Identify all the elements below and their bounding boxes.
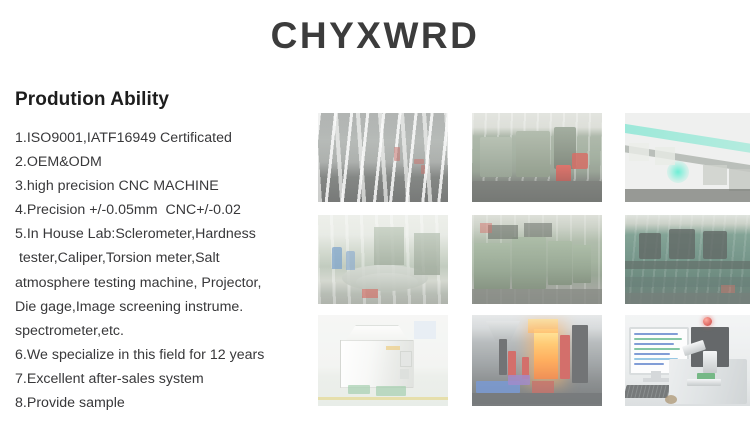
photo-r1c3-image [625, 113, 750, 202]
ability-line: 6.We specialize in this field for 12 yea… [15, 343, 315, 367]
factory-photo-grid [318, 113, 750, 406]
photo-r1c3 [625, 113, 750, 202]
ability-line: 4.Precision +/-0.05mm CNC+/-0.02 [15, 198, 315, 222]
photo-r2c1-image [318, 215, 448, 304]
photo-r1c1-image [318, 113, 448, 202]
production-ability-block: Prodution Ability 1.ISO9001,IATF16949 Ce… [15, 88, 315, 415]
ability-line: 3.high precision CNC MACHINE [15, 174, 315, 198]
banner: CHYXWRD [0, 14, 750, 58]
photo-r1c2 [472, 113, 602, 202]
photo-r3c3-image [625, 315, 750, 406]
photo-r3c1 [318, 315, 448, 406]
photo-r3c1-image [318, 315, 448, 406]
photo-r1c1 [318, 113, 448, 202]
ability-line: 2.OEM&ODM [15, 150, 315, 174]
photo-r2c3-image [625, 215, 750, 304]
ability-list: 1.ISO9001,IATF16949 Certificated 2.OEM&O… [15, 126, 315, 415]
ability-line: spectrometer,etc. [15, 319, 315, 343]
ability-line: tester,Caliper,Torsion meter,Salt [15, 246, 315, 270]
ability-line: 5.In House Lab:Sclerometer,Hardness [15, 222, 315, 246]
ability-line: 1.ISO9001,IATF16949 Certificated [15, 126, 315, 150]
page-root: CHYXWRD Prodution Ability 1.ISO9001,IATF… [0, 0, 750, 425]
photo-r3c2 [472, 315, 602, 406]
photo-r2c2 [472, 215, 602, 304]
ability-line: atmosphere testing machine, Projector, [15, 271, 315, 295]
company-title: CHYXWRD [271, 14, 480, 58]
photo-r2c2-image [472, 215, 602, 304]
ability-line: 7.Excellent after-sales system [15, 367, 315, 391]
section-heading: Prodution Ability [15, 88, 315, 112]
photo-r3c2-image [472, 315, 602, 406]
photo-r2c1 [318, 215, 448, 304]
photo-r1c2-image [472, 113, 602, 202]
ability-line: 8.Provide sample [15, 391, 315, 415]
photo-r3c3 [625, 315, 750, 406]
photo-r2c3 [625, 215, 750, 304]
ability-line: Die gage,Image screening instrume. [15, 295, 315, 319]
